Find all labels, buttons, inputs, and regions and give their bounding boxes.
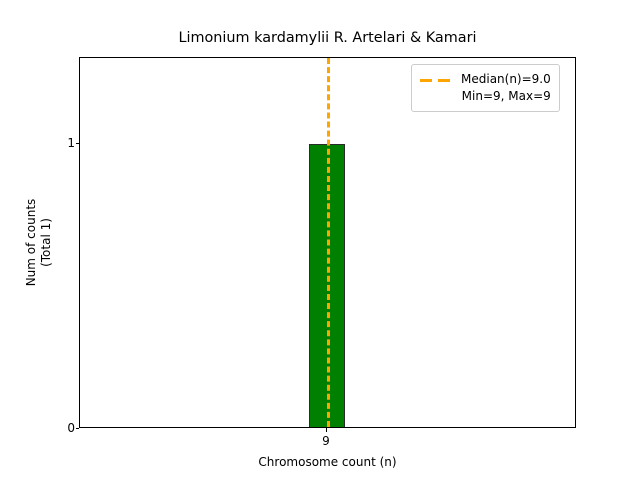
x-axis-label: Chromosome count (n) <box>79 455 576 469</box>
y-axis-label-line1: Num of counts <box>24 199 39 287</box>
y-axis-label-line2: (Total 1) <box>39 218 54 267</box>
y-tick-mark-0 <box>76 428 80 429</box>
legend-entry-median: Median(n)=9.0 <box>461 71 551 88</box>
chart-title: Limonium kardamylii R. Artelari & Kamari <box>79 30 576 46</box>
chart-figure: Limonium kardamylii R. Artelari & Kamari… <box>0 0 640 480</box>
legend-entry-minmax: Min=9, Max=9 <box>462 88 551 105</box>
plot-area: Median(n)=9.0 Min=9, Max=9 <box>79 57 576 428</box>
legend-text-block: Median(n)=9.0 Min=9, Max=9 <box>461 71 551 105</box>
legend[interactable]: Median(n)=9.0 Min=9, Max=9 <box>411 64 560 112</box>
x-tick-mark-9 <box>326 428 327 432</box>
legend-dashed-line-icon <box>420 72 452 88</box>
y-axis-label: Num of counts (Total 1) <box>22 57 56 428</box>
x-tick-label-9: 9 <box>296 434 356 448</box>
median-vline <box>327 58 330 427</box>
